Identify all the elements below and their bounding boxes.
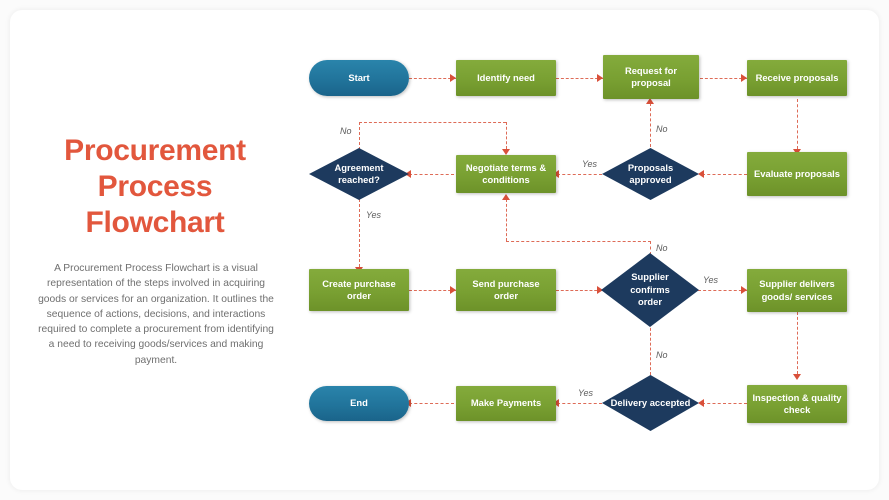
node-supplier-delivers-label: Supplier delivers goods/ services	[751, 278, 843, 303]
arrowhead-delivers-inspection	[793, 374, 801, 380]
connector-delivery-payments	[557, 403, 602, 404]
node-supplier-confirms-order[interactable]: Supplier confirms order	[601, 253, 699, 327]
node-agreement-reached-label: Agreement reached?	[313, 162, 405, 187]
node-start-label: Start	[348, 72, 369, 85]
connector-sendpo-confirms	[556, 290, 602, 291]
node-supplier-confirms-order-label: Supplier confirms order	[622, 271, 678, 309]
node-receive-proposals-label: Receive proposals	[756, 72, 839, 85]
arrowhead-confirms-negotiate	[502, 194, 510, 200]
node-end-label: End	[350, 397, 368, 410]
connector-start-identify	[409, 78, 456, 79]
node-request-for-proposal[interactable]: Request for proposal	[603, 55, 699, 99]
edge-label-confirms-yes: Yes	[703, 275, 718, 285]
connector-evaluate-approved	[702, 174, 747, 175]
edge-label-delivery-yes: Yes	[578, 388, 593, 398]
node-proposals-approved-label: Proposals approved	[606, 162, 695, 187]
node-send-purchase-order[interactable]: Send purchase order	[456, 269, 556, 311]
connector-agreement-no-down	[506, 122, 507, 149]
connector-delivers-inspection	[797, 312, 798, 374]
connector-confirms-delivers	[698, 290, 747, 291]
edge-label-agreement-no: No	[340, 126, 352, 136]
node-receive-proposals[interactable]: Receive proposals	[747, 60, 847, 96]
connector-rfp-receive	[700, 78, 747, 79]
node-identify-need[interactable]: Identify need	[456, 60, 556, 96]
node-create-purchase-order[interactable]: Create purchase order	[309, 269, 409, 311]
page-title: Procurement Process Flowchart	[30, 133, 280, 241]
node-request-for-proposal-label: Request for proposal	[607, 65, 695, 90]
node-negotiate-terms-label: Negotiate terms & conditions	[460, 162, 552, 187]
connector-createpo-sendpo	[409, 290, 456, 291]
node-evaluate-proposals-label: Evaluate proposals	[754, 168, 840, 181]
node-proposals-approved[interactable]: Proposals approved	[602, 148, 699, 200]
node-agreement-reached[interactable]: Agreement reached?	[309, 148, 409, 200]
connector-agreement-no-up	[359, 122, 360, 150]
node-identify-need-label: Identify need	[477, 72, 535, 85]
edge-label-approved-no: No	[656, 124, 668, 134]
connector-identify-rfp	[556, 78, 603, 79]
node-create-purchase-order-label: Create purchase order	[313, 278, 405, 303]
node-start[interactable]: Start	[309, 60, 409, 96]
node-make-payments-label: Make Payments	[471, 397, 541, 410]
connector-payments-end	[409, 403, 454, 404]
connector-approved-negotiate	[557, 174, 602, 175]
node-delivery-accepted-label: Delivery accepted	[611, 397, 691, 410]
connector-receive-evaluate	[797, 99, 798, 149]
node-delivery-accepted[interactable]: Delivery accepted	[602, 375, 699, 431]
node-end[interactable]: End	[309, 386, 409, 421]
connector-negotiate-agreement	[409, 174, 454, 175]
connector-approved-rfp	[650, 103, 651, 147]
node-inspection-quality-check-label: Inspection & quality check	[751, 392, 843, 417]
connector-confirms-no-upleft	[506, 199, 507, 241]
node-negotiate-terms[interactable]: Negotiate terms & conditions	[456, 155, 556, 193]
node-inspection-quality-check[interactable]: Inspection & quality check	[747, 385, 847, 423]
connector-agreement-no-across	[359, 122, 506, 123]
node-evaluate-proposals[interactable]: Evaluate proposals	[747, 152, 847, 196]
node-supplier-delivers[interactable]: Supplier delivers goods/ services	[747, 269, 847, 312]
connector-confirms-no-across	[506, 241, 651, 242]
slide-background: Procurement Process Flowchart A Procurem…	[0, 0, 889, 500]
edge-label-delivery-no: No	[656, 350, 668, 360]
edge-label-approved-yes: Yes	[582, 159, 597, 169]
node-make-payments[interactable]: Make Payments	[456, 386, 556, 421]
node-send-purchase-order-label: Send purchase order	[460, 278, 552, 303]
edge-label-agreement-yes: Yes	[366, 210, 381, 220]
page-description: A Procurement Process Flowchart is a vis…	[38, 261, 274, 368]
connector-delivery-confirms	[650, 323, 651, 375]
connector-inspection-delivery	[702, 403, 747, 404]
connector-agreement-createpo	[359, 199, 360, 267]
